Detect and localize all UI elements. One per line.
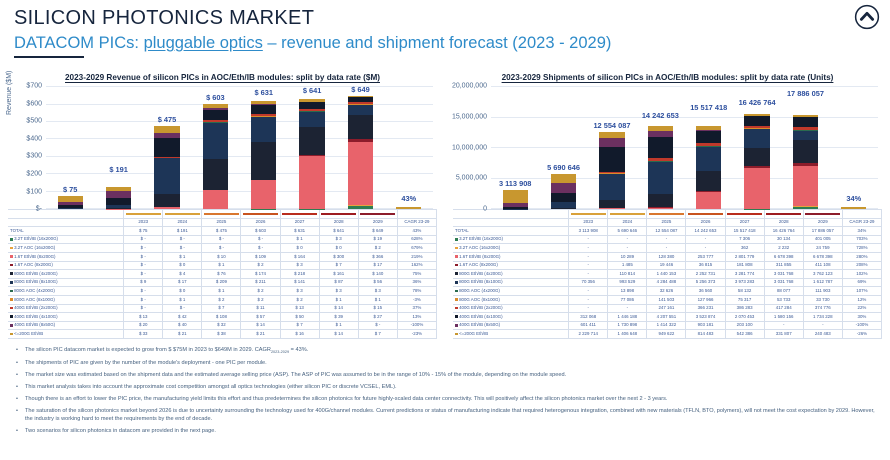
table-cell: $ 13: [280, 304, 319, 313]
bar-column[interactable]: $ 641: [288, 87, 336, 209]
table-cell: 601 411: [569, 321, 608, 330]
bar-segment[interactable]: [696, 192, 721, 209]
table-cell: $ 14: [319, 330, 358, 339]
bar-total-label: $ 649: [351, 85, 370, 94]
table-cell: 411 108: [803, 261, 842, 270]
bar-segment[interactable]: [299, 156, 324, 208]
table-color-strip: [453, 210, 882, 219]
table-cell: -: [569, 261, 608, 270]
row-label: 3.2T AOC (16x200G): [14, 245, 55, 250]
table-cell: 386 283: [725, 304, 764, 313]
legend-swatch-icon: [10, 324, 13, 327]
table-row[interactable]: <=200G Eth/IB2 229 7141 406 648949 62281…: [453, 330, 882, 339]
table-cell: $ -: [124, 235, 163, 244]
bar-segment[interactable]: [793, 131, 818, 141]
bar-segment[interactable]: [299, 127, 324, 155]
slide-header: SILICON PHOTONICS MARKET DATACOM PICs: p…: [0, 0, 890, 58]
table-cell: $ 0: [163, 287, 202, 296]
table-row[interactable]: 3.2T AOC (16x200G)$ -$ -$ -$ -$ 0$ 0$ 26…: [8, 244, 437, 253]
bar-column[interactable]: 12 554 087: [588, 87, 636, 209]
row-label: 800G Eth/IB (8x100G): [14, 279, 57, 284]
table-cell: $ -: [163, 304, 202, 313]
table-row[interactable]: TOTAL3 113 9085 690 64612 554 08714 242 …: [453, 227, 882, 236]
table-row-header: <=200G Eth/IB: [453, 330, 569, 339]
subtitle-link[interactable]: pluggable optics: [144, 34, 263, 52]
y-axis-tick-label: 5,000,000: [456, 175, 487, 182]
table-cell: $ 603: [241, 227, 280, 236]
table-cell: $ 211: [241, 278, 280, 287]
stacked-bar[interactable]: [299, 97, 324, 209]
table-cell: 69%: [842, 278, 881, 287]
table-row-header: 800G AOC (8x100G): [453, 296, 569, 305]
table-row[interactable]: 400G Eth/IB (2x200G)$ -$ -$ 7$ 11$ 13$ 1…: [8, 304, 437, 313]
bar-segment[interactable]: [106, 198, 131, 205]
bar-segment[interactable]: [251, 142, 276, 180]
table-cell: $ -: [358, 321, 397, 330]
bar-segment[interactable]: [348, 115, 373, 139]
bar-segment[interactable]: [599, 174, 624, 200]
bar-column[interactable]: 34%: [830, 87, 878, 209]
bar-segment[interactable]: [203, 123, 228, 160]
bar-segment[interactable]: [299, 102, 324, 109]
stacked-bar[interactable]: [744, 109, 769, 209]
stacked-bar[interactable]: [599, 132, 624, 209]
title-underline-rule: [14, 56, 84, 58]
table-row-header: <=200G Eth/IB: [8, 330, 124, 339]
table-cell: $ 2: [280, 296, 319, 305]
table-cell: $ 15: [358, 304, 397, 313]
revenue-plot-area: Revenue ($M) $-$100$200$300$400$500$600$…: [8, 87, 437, 209]
table-cell: 107%: [842, 287, 881, 296]
table-cell: 2 252 731: [686, 270, 725, 279]
legend-swatch-icon: [455, 307, 458, 310]
stacked-bar[interactable]: [503, 190, 528, 209]
color-strip-cell: [280, 210, 319, 219]
table-cell: -: [608, 244, 647, 253]
table-cell: 247 161: [647, 304, 686, 313]
bar-total-label: 3 113 908: [499, 179, 531, 188]
bar-column[interactable]: $ 649: [336, 87, 384, 209]
page-subtitle: DATACOM PICs: pluggable optics – revenue…: [14, 32, 876, 54]
table-cell: 6 678 398: [803, 253, 842, 262]
table-cell: $ 33: [124, 330, 163, 339]
table-cell: $ 2: [241, 261, 280, 270]
row-label: TOTAL: [455, 228, 469, 233]
table-row[interactable]: 400G Eth/IB (4x100G)312 0681 446 1884 20…: [453, 313, 882, 322]
revenue-bar-group: $ 75$ 191$ 475$ 603$ 631$ 641$ 64943%: [46, 87, 433, 209]
table-cell: $ 1: [202, 261, 241, 270]
table-column-header: 2023: [124, 218, 163, 227]
color-strip-cell: [8, 210, 124, 219]
table-cell: 14 242 653: [686, 227, 725, 236]
bar-segment[interactable]: [203, 110, 228, 120]
table-cell: 7 306: [725, 235, 764, 244]
table-row-header: 800G Eth/IB (8x100G): [453, 278, 569, 287]
table-row[interactable]: 800G Eth/IB (4x200G)-110 8141 440 1532 2…: [453, 270, 882, 279]
table-cell: 628%: [397, 235, 436, 244]
table-column-header: 2024: [608, 218, 647, 227]
table-row[interactable]: 800G Eth/IB (8x100G)70 356993 5294 284 4…: [453, 278, 882, 287]
stacked-bar[interactable]: [251, 99, 276, 209]
table-cell: $ 2: [241, 287, 280, 296]
bar-column[interactable]: $ 75: [46, 87, 94, 209]
table-row[interactable]: 1.6T Eth/IB (8x200G)$ -$ 1$ 10$ 109$ 164…: [8, 253, 437, 262]
bar-segment[interactable]: [154, 194, 179, 207]
stacked-bar[interactable]: [551, 174, 576, 209]
color-strip-cell: [319, 210, 358, 219]
bar-segment[interactable]: [203, 159, 228, 189]
table-cell: -100%: [842, 321, 881, 330]
table-cell: 1 406 648: [608, 330, 647, 339]
bar-segment[interactable]: [793, 207, 818, 209]
table-cell: 5 690 646: [608, 227, 647, 236]
table-cell: $ 19: [358, 235, 397, 244]
table-cell: 203 100: [725, 321, 764, 330]
bar-column[interactable]: 16 426 764: [733, 87, 781, 209]
bar-segment[interactable]: [299, 209, 324, 210]
bullet-dot-icon: •: [16, 407, 25, 424]
table-cell: 127 966: [686, 296, 725, 305]
row-label: 3.2T AOC (16x200G): [459, 245, 500, 250]
table-cell: 814 483: [686, 330, 725, 339]
table-cell: 1 580 156: [764, 313, 803, 322]
table-cell: $ 11: [241, 304, 280, 313]
table-cell: 37%: [397, 304, 436, 313]
bar-segment[interactable]: [106, 191, 131, 198]
bar-column[interactable]: 3 113 908: [491, 87, 539, 209]
chevron-up-circle-icon[interactable]: [854, 4, 880, 30]
table-cell: -: [686, 244, 725, 253]
bar-segment[interactable]: [696, 147, 721, 171]
table-cell: $ 3: [280, 261, 319, 270]
table-cell: 162%: [397, 261, 436, 270]
table-cell: $ 32: [202, 321, 241, 330]
bar-column[interactable]: 15 517 418: [685, 87, 733, 209]
row-label: 800G Eth/IB (8x100G): [459, 279, 502, 284]
stacked-bar[interactable]: [154, 126, 179, 209]
table-cell: $ 40: [163, 321, 202, 330]
y-axis-tick-label: $400: [26, 135, 42, 142]
table-cell: -: [647, 244, 686, 253]
table-cell: 102%: [842, 270, 881, 279]
table-cell: $ 7: [319, 261, 358, 270]
table-cell: 10 289: [608, 253, 647, 262]
table-cell: $ 0: [163, 261, 202, 270]
row-label: 800G AOC (4x200G): [459, 288, 500, 293]
table-cell: $ 161: [319, 270, 358, 279]
bar-segment[interactable]: [348, 142, 373, 205]
table-row-header: 400G Eth/IB (2x200G): [453, 304, 569, 313]
table-row-header: 3.2T AOC (16x200G): [453, 244, 569, 253]
table-cell: $ 42: [163, 313, 202, 322]
table-cell: -: [686, 235, 725, 244]
revenue-data-table[interactable]: 2023202420252026202720282029CAGR 23-29TO…: [8, 209, 437, 339]
table-cell: $ 108: [202, 313, 241, 322]
color-strip-cell: [163, 210, 202, 219]
table-cell: -: [569, 235, 608, 244]
bar-segment[interactable]: [251, 105, 276, 114]
bar-segment[interactable]: [744, 168, 769, 209]
bullet-text: Two scenarios for silicon photonics in d…: [25, 427, 878, 435]
bullet-item: •The saturation of the silicon photonics…: [16, 407, 878, 424]
table-cell: -: [569, 270, 608, 279]
table-cell: $ 300: [319, 253, 358, 262]
table-cell: $ 21: [163, 330, 202, 339]
table-cell: $ -: [124, 261, 163, 270]
table-cell: 34%: [842, 227, 881, 236]
table-cell: $ 1: [202, 287, 241, 296]
stacked-bar[interactable]: [793, 100, 818, 209]
table-cell: 2 070 453: [725, 313, 764, 322]
bar-column[interactable]: $ 475: [143, 87, 191, 209]
table-column-header: 2027: [725, 218, 764, 227]
table-row-header: 800G Eth/IB (4x200G): [8, 270, 124, 279]
bullet-dot-icon: •: [16, 346, 25, 356]
table-cell: $ 7: [358, 330, 397, 339]
bar-segment[interactable]: [648, 137, 673, 158]
bar-segment[interactable]: [696, 131, 721, 144]
bar-segment[interactable]: [58, 208, 83, 210]
table-cell: 70 356: [569, 278, 608, 287]
bar-total-label: $ 641: [303, 86, 322, 95]
table-row[interactable]: 800G Eth/IB (8x100G)$ 9$ 17$ 209$ 211$ 1…: [8, 278, 437, 287]
bar-segment[interactable]: [154, 138, 179, 156]
table-cell: $ 1: [358, 296, 397, 305]
bar-segment[interactable]: [599, 138, 624, 146]
legend-swatch-icon: [10, 333, 13, 336]
color-strip-cell: [569, 210, 608, 219]
bar-segment[interactable]: [251, 117, 276, 142]
row-label: 400G Eth/IB (4x100G): [14, 314, 57, 319]
table-row[interactable]: TOTAL$ 75$ 191$ 475$ 603$ 631$ 641$ 6494…: [8, 227, 437, 236]
table-cell: 32 626: [647, 287, 686, 296]
table-cell: $ 3: [319, 287, 358, 296]
table-cell: 75%: [397, 270, 436, 279]
table-row[interactable]: 1.6T AOC (8x200G)-1 48519 44636 815181 8…: [453, 261, 882, 270]
table-header-row: 2023202420252026202720282029CAGR 23-29: [453, 218, 882, 227]
bar-segment[interactable]: [348, 105, 373, 115]
table-cell: 1 734 228: [803, 313, 842, 322]
row-label: 800G AOC (8x100G): [14, 297, 55, 302]
stacked-bar[interactable]: [648, 122, 673, 209]
table-row[interactable]: 3.2T AOC (16x200G)----3622 23224 759728%: [453, 244, 882, 253]
table-cell: $ -: [241, 235, 280, 244]
legend-swatch-icon: [455, 290, 458, 293]
table-cell: 88 077: [764, 287, 803, 296]
color-strip-cell: [803, 210, 842, 219]
table-cell: 4 284 488: [647, 278, 686, 287]
table-cell: $ 4: [163, 270, 202, 279]
shipment-data-table[interactable]: 2023202420252026202720282029CAGR 23-29TO…: [453, 209, 882, 339]
table-cell: 30 134: [764, 235, 803, 244]
bar-segment[interactable]: [503, 190, 528, 203]
table-cell: $ 2: [358, 244, 397, 253]
row-label: 800G AOC (8x100G): [459, 297, 500, 302]
table-cell: $ 2: [202, 296, 241, 305]
table-cell: 30%: [842, 313, 881, 322]
table-cell: $ 10: [202, 253, 241, 262]
bar-segment[interactable]: [551, 183, 576, 193]
table-cell: $ 13: [124, 313, 163, 322]
stacked-bar[interactable]: [203, 104, 228, 209]
table-cell: 993 529: [608, 278, 647, 287]
color-strip-cell: [453, 210, 569, 219]
table-cell: 331 807: [764, 330, 803, 339]
table-cell: $ 631: [280, 227, 319, 236]
table-column-header: 2026: [241, 218, 280, 227]
table-row-header: 1.6T Eth/IB (8x200G): [8, 253, 124, 262]
table-header-row: 2023202420252026202720282029CAGR 23-29: [8, 218, 437, 227]
y-axis-tick-label: $-: [36, 206, 42, 213]
table-row[interactable]: 800G Eth/IB (4x200G)$ -$ 4$ 76$ 174$ 218…: [8, 270, 437, 279]
table-cell: 3 973 283: [725, 278, 764, 287]
bar-segment[interactable]: [203, 190, 228, 209]
table-row[interactable]: 800G AOC (8x100G)-77 086141 503127 96675…: [453, 296, 882, 305]
table-row[interactable]: 800G AOC (8x100G)$ -$ 1$ 2$ 2$ 2$ 1$ 1-3…: [8, 296, 437, 305]
table-column-header: CAGR 23-29: [842, 218, 881, 227]
table-cell: 36%: [397, 278, 436, 287]
table-cell: $ 21: [241, 330, 280, 339]
row-label: 3.2T Eth/IB (16x200G): [14, 236, 58, 241]
table-row[interactable]: 400G Eth/IB (8x50G)$ 20$ 40$ 32$ 14$ 7$ …: [8, 321, 437, 330]
stacked-bar[interactable]: [58, 196, 83, 209]
bar-segment[interactable]: [154, 207, 179, 209]
table-row-header: 400G Eth/IB (4x100G): [8, 313, 124, 322]
legend-swatch-icon: [10, 281, 13, 284]
bar-segment[interactable]: [551, 174, 576, 182]
table-row[interactable]: 800G AOC (4x200G)-13 89832 62636 56058 1…: [453, 287, 882, 296]
bar-column[interactable]: 5 690 646: [539, 87, 587, 209]
table-row[interactable]: 1.6T Eth/IB (8x200G)-10 289128 380253 77…: [453, 253, 882, 262]
legend-swatch-icon: [455, 255, 458, 258]
table-cell: 2 232: [764, 244, 803, 253]
table-row-header: 800G Eth/IB (8x100G): [8, 278, 124, 287]
legend-swatch-icon: [455, 281, 458, 284]
table-cell: 2 801 779: [725, 253, 764, 262]
table-cell: $ 3: [280, 287, 319, 296]
table-cell: $ 141: [280, 278, 319, 287]
bar-segment[interactable]: [793, 166, 818, 207]
bar-segment[interactable]: [551, 193, 576, 202]
table-cell: $ 87: [319, 278, 358, 287]
row-label: 800G Eth/IB (4x200G): [459, 271, 502, 276]
bar-segment[interactable]: [599, 208, 624, 209]
bar-segment[interactable]: [744, 129, 769, 147]
table-corner-cell: [453, 218, 569, 227]
stacked-bar[interactable]: [696, 114, 721, 209]
legend-swatch-icon: [455, 333, 458, 336]
bar-segment[interactable]: [251, 180, 276, 209]
bar-column[interactable]: 14 242 653: [636, 87, 684, 209]
table-cell: $ -: [163, 235, 202, 244]
cagr-value-label: 43%: [401, 194, 416, 203]
table-cell: $ -: [202, 235, 241, 244]
table-row[interactable]: 400G Eth/IB (8x50G)601 4111 730 8981 414…: [453, 321, 882, 330]
bar-segment[interactable]: [599, 147, 624, 172]
table-cell: -: [569, 244, 608, 253]
table-cell: 36 815: [686, 261, 725, 270]
table-cell: 903 181: [686, 321, 725, 330]
table-row[interactable]: 3.2T Eth/IB (16x200G)----7 30630 134401 …: [453, 235, 882, 244]
table-cell: 1 485: [608, 261, 647, 270]
table-cell: 240 483: [803, 330, 842, 339]
table-cell: $ 1: [280, 235, 319, 244]
table-cell: $ -: [202, 244, 241, 253]
color-strip-cell: [397, 210, 436, 219]
table-cell: $ 1: [319, 321, 358, 330]
bar-segment[interactable]: [648, 162, 673, 194]
table-row[interactable]: 800G AOC (4x200G)$ -$ 0$ 1$ 2$ 3$ 3$ 378…: [8, 287, 437, 296]
stacked-bar[interactable]: [106, 176, 131, 209]
bar-segment[interactable]: [696, 171, 721, 191]
bar-segment[interactable]: [648, 208, 673, 210]
table-row[interactable]: 400G Eth/IB (2x200G)--247 161366 231386 …: [453, 304, 882, 313]
table-cell: 12%: [842, 296, 881, 305]
table-cell: $ 7: [202, 304, 241, 313]
y-axis-tick-label: 15,000,000: [452, 113, 487, 120]
table-row-header: 400G Eth/IB (8x50G): [8, 321, 124, 330]
bar-column[interactable]: $ 191: [94, 87, 142, 209]
bar-segment[interactable]: [299, 112, 324, 127]
bar-segment[interactable]: [348, 206, 373, 209]
bar-segment[interactable]: [744, 148, 769, 166]
table-cell: 362: [725, 244, 764, 253]
bullet-item: •Though there is an effort to lower the …: [16, 395, 878, 403]
stacked-bar[interactable]: [348, 96, 373, 209]
table-row[interactable]: 400G Eth/IB (4x100G)$ 13$ 42$ 108$ 57$ 5…: [8, 313, 437, 322]
table-row[interactable]: 3.2T Eth/IB (16x200G)$ -$ -$ -$ -$ 1$ 3$…: [8, 235, 437, 244]
bar-segment[interactable]: [793, 140, 818, 163]
table-row-header: 400G Eth/IB (4x100G): [453, 313, 569, 322]
bar-column[interactable]: 43%: [385, 87, 433, 209]
row-label: 400G Eth/IB (2x200G): [14, 305, 57, 310]
table-cell: $ 9: [124, 278, 163, 287]
table-row-header: 3.2T AOC (16x200G): [8, 244, 124, 253]
table-row[interactable]: 1.6T AOC (8x200G)$ -$ 0$ 1$ 2$ 3$ 7$ 171…: [8, 261, 437, 270]
table-row[interactable]: <=200G Eth/IB$ 33$ 21$ 38$ 21$ 16$ 14$ 7…: [8, 330, 437, 339]
bullet-item: •The shipments of PIC are given by the n…: [16, 359, 878, 367]
legend-swatch-icon: [10, 247, 13, 250]
bar-segment[interactable]: [154, 158, 179, 194]
bar-segment[interactable]: [599, 200, 624, 209]
bar-column[interactable]: 17 886 057: [781, 87, 829, 209]
bar-total-label: $ 475: [158, 115, 177, 124]
table-cell: 401 005: [803, 235, 842, 244]
table-cell: 3 281 774: [725, 270, 764, 279]
bar-segment[interactable]: [793, 117, 818, 128]
table-cell: $ 1: [163, 253, 202, 262]
color-strip-cell: [124, 210, 163, 219]
table-cell: 311 855: [764, 261, 803, 270]
row-label: 800G AOC (4x200G): [14, 288, 55, 293]
table-cell: $ 75: [124, 227, 163, 236]
table-cell: 13%: [397, 313, 436, 322]
bar-total-label: 5 690 646: [547, 163, 580, 172]
bar-segment[interactable]: [744, 116, 769, 126]
bullet-dot-icon: •: [16, 383, 25, 391]
bar-column[interactable]: $ 603: [191, 87, 239, 209]
table-cell: 949 622: [647, 330, 686, 339]
bar-segment[interactable]: [648, 194, 673, 208]
y-axis-tick-label: $200: [26, 170, 42, 177]
legend-swatch-icon: [455, 247, 458, 250]
table-cell: 78%: [397, 287, 436, 296]
bar-column[interactable]: $ 631: [240, 87, 288, 209]
table-cell: $ 3: [358, 287, 397, 296]
table-cell: 542 386: [725, 330, 764, 339]
subtitle-suffix: – revenue and shipment forecast (2023 - …: [263, 34, 612, 52]
color-strip-cell: [647, 210, 686, 219]
